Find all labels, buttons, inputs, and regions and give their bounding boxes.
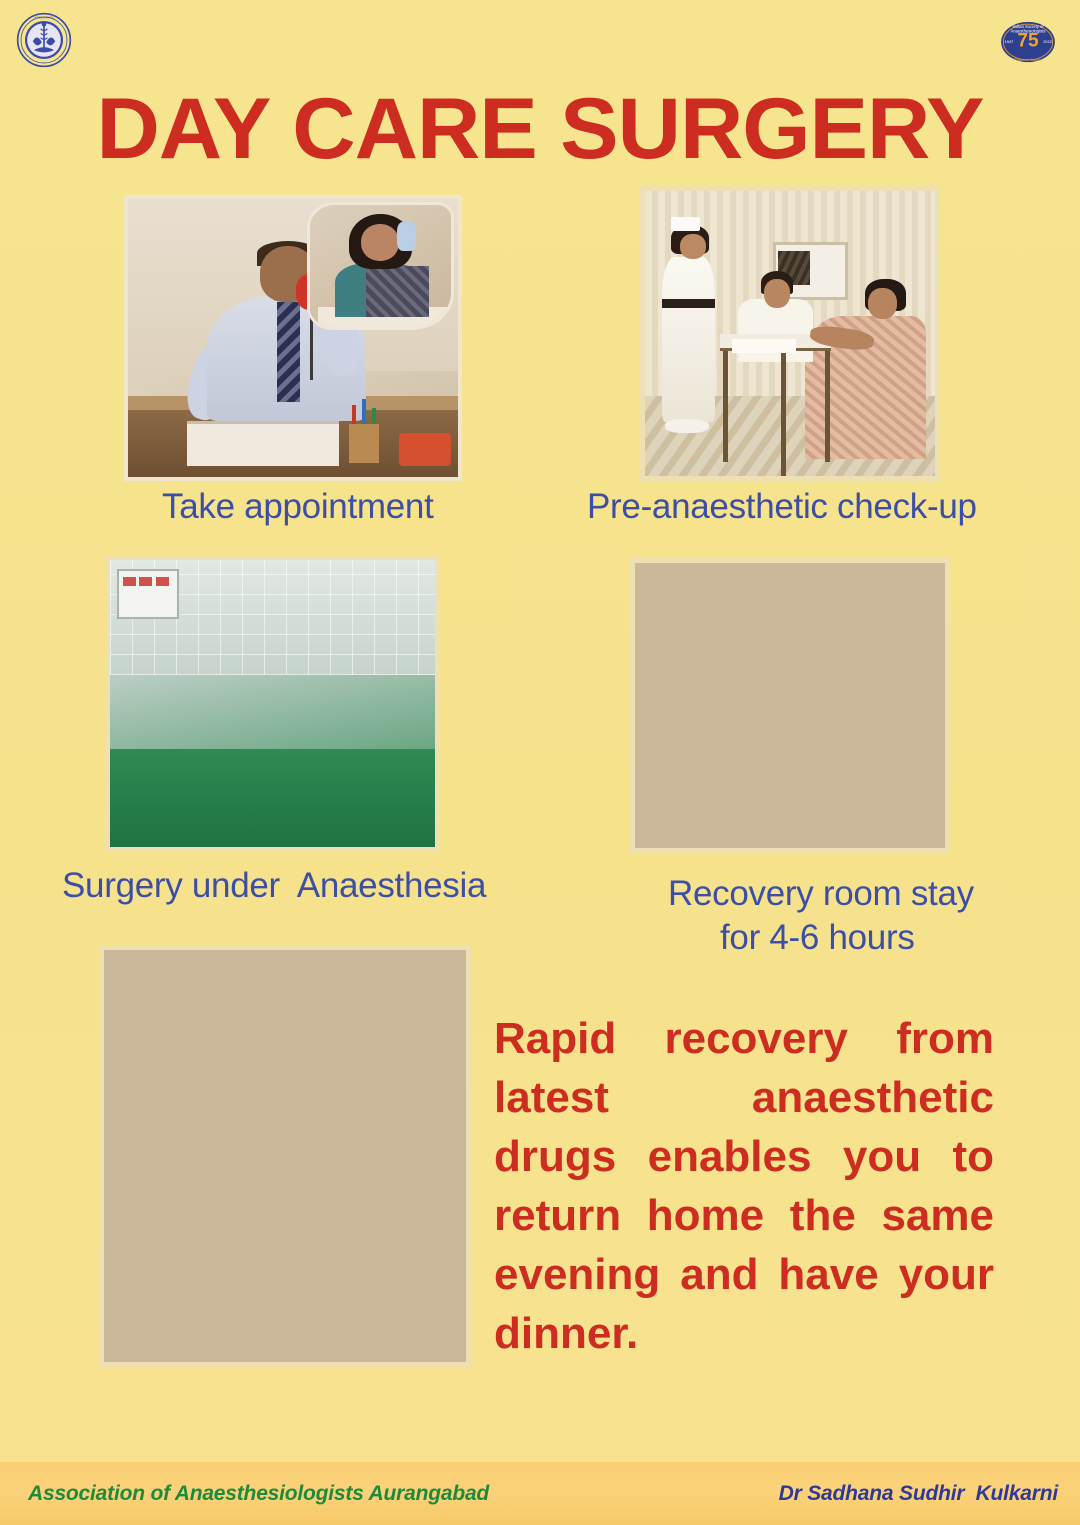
caption-recovery-room-stay-line1: Recovery room stay [668, 874, 974, 914]
svg-text:2022: 2022 [1043, 39, 1052, 44]
svg-text:ASSOCIATION: ASSOCIATION [35, 16, 54, 20]
svg-text:75: 75 [1017, 30, 1039, 51]
photo-pre-anaesthetic-check-up [645, 191, 935, 476]
caption-recovery-room-stay-line2: for 4-6 hours [720, 918, 915, 958]
svg-text:Platinum Jubilee: Platinum Jubilee [1014, 57, 1043, 62]
caption-surgery-under-anaesthesia: Surgery under Anaesthesia [62, 866, 486, 906]
poster-canvas: ASSOCIATION Indian Society of Anaesthesi… [0, 0, 1080, 1525]
photo-surgery-under-anaesthesia [110, 560, 435, 847]
isa-platinum-jubilee-logo: Indian Society of Anaesthesiologists 75 … [1000, 14, 1056, 70]
caption-take-appointment: Take appointment [162, 487, 434, 527]
svg-text:1947: 1947 [1005, 39, 1014, 44]
footer-author: Dr Sadhana Sudhir Kulkarni [779, 1482, 1058, 1506]
page-title: DAY CARE SURGERY [0, 86, 1080, 172]
caption-pre-anaesthetic-check-up: Pre-anaesthetic check-up [587, 487, 977, 527]
blurb-text: Rapid recovery from latest anaesthetic d… [494, 1009, 994, 1422]
association-seal-logo: ASSOCIATION [16, 12, 72, 68]
photo-recovery-room-stay [635, 563, 945, 848]
footer-association: Association of Anaesthesiologists Aurang… [28, 1482, 489, 1506]
photo-take-appointment [128, 199, 458, 477]
photo-return-home-corridor [104, 950, 466, 1362]
